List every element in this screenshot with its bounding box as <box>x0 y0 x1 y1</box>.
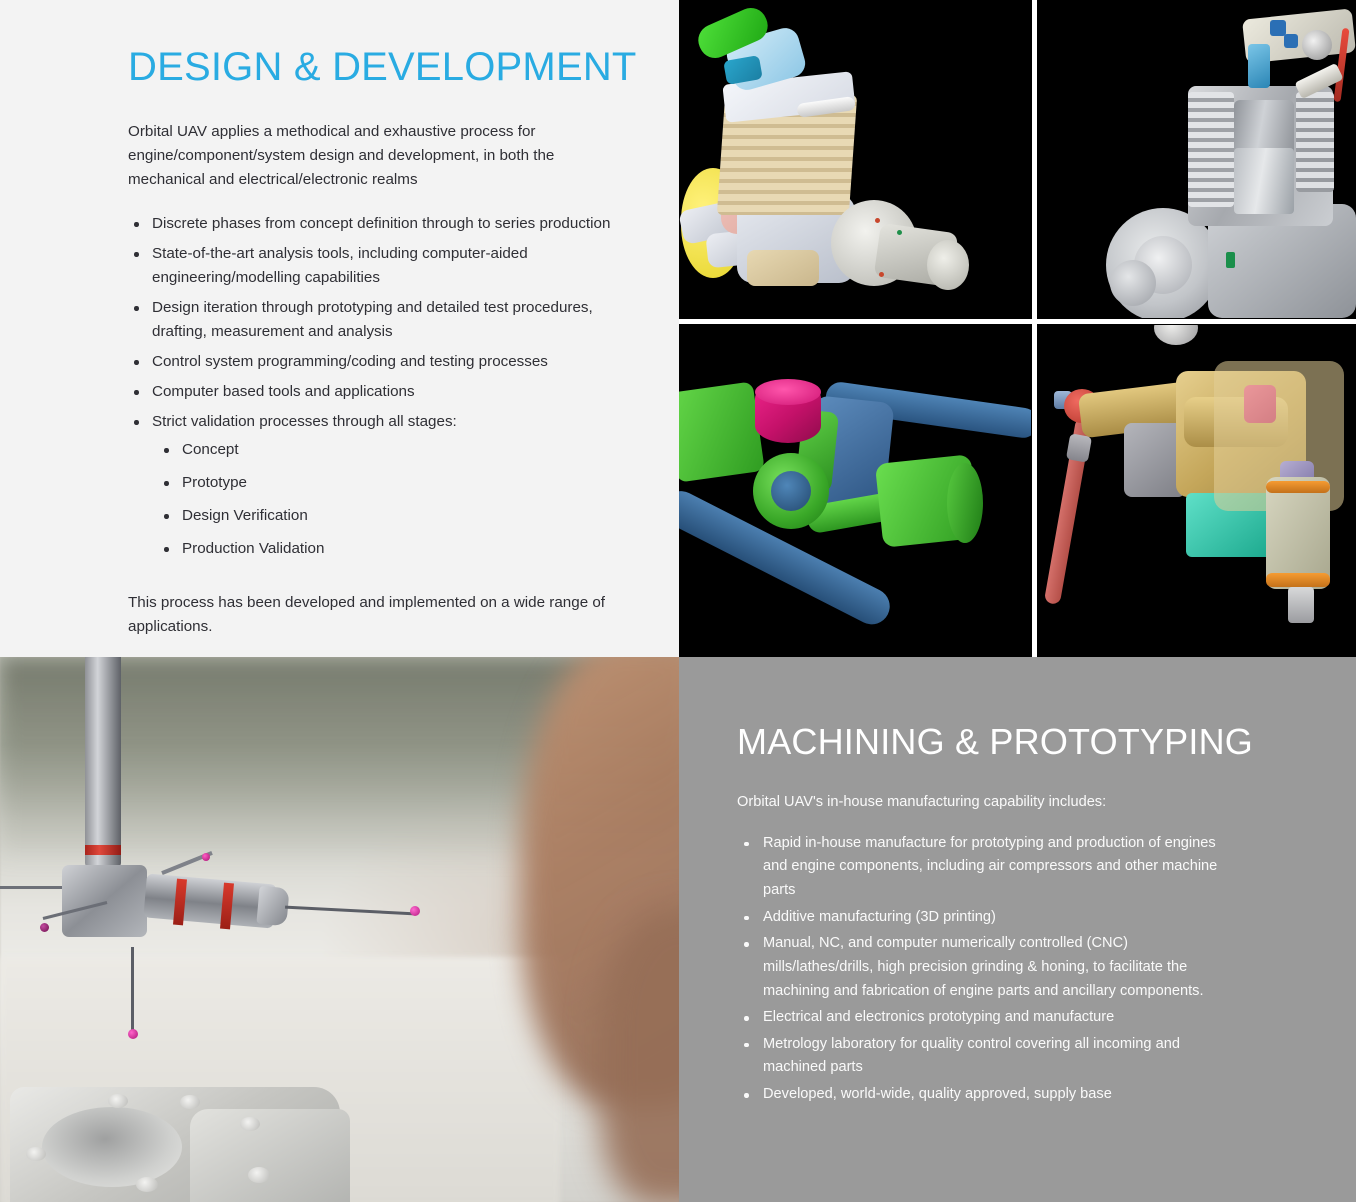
cmm-stylus-down <box>131 947 134 1032</box>
list-item: Discrete phases from concept definition … <box>128 212 621 236</box>
cad-part-marker-dot <box>879 272 884 277</box>
cad-image-engine-cutaway <box>1038 0 1356 318</box>
list-item: Metrology laboratory for quality control… <box>737 1033 1237 1080</box>
design-development-closing: This process has been developed and impl… <box>128 591 621 639</box>
cmm-quill-red-band <box>85 845 121 855</box>
cad-part-hub-end <box>927 240 969 290</box>
grid-divider-horizontal <box>679 319 1356 324</box>
cad-part-piston <box>1234 148 1294 214</box>
cad-part-hub <box>1110 260 1156 306</box>
list-item: Design iteration through prototyping and… <box>128 296 621 344</box>
grid-divider-vertical <box>1032 0 1037 657</box>
design-development-heading: DESIGN & DEVELOPMENT <box>128 44 621 90</box>
cmm-ruby-ball-left <box>40 923 49 932</box>
cad-part-cooling-fins-left <box>1188 92 1234 207</box>
cad-image-grid <box>679 0 1356 657</box>
cad-part-piston-right-crown <box>947 463 983 543</box>
casting-bolt-hole <box>136 1177 158 1192</box>
cad-part-nozzle <box>1288 587 1314 623</box>
list-item: Prototype <box>152 471 621 495</box>
list-item: Electrical and electronics prototyping a… <box>737 1006 1237 1030</box>
cad-part-blue-fitting <box>1284 34 1298 48</box>
list-item: Manual, NC, and computer numerically con… <box>737 932 1237 1003</box>
cad-part-orange-ring-bottom <box>1266 573 1330 587</box>
list-item-label: Strict validation processes through all … <box>152 413 457 430</box>
cad-part-green-marker <box>1226 252 1235 268</box>
list-item: State-of-the-art analysis tools, includi… <box>128 242 621 290</box>
cad-part-tan-base <box>747 250 819 286</box>
list-item: Additive manufacturing (3D printing) <box>737 906 1237 930</box>
cad-part-blue-fitting <box>1270 20 1286 36</box>
engine-casting-side <box>190 1109 350 1202</box>
list-item: Control system programming/coding and te… <box>128 350 621 374</box>
cad-part-orange-ring-top <box>1266 481 1330 493</box>
validation-stages-list: Concept Prototype Design Verification Pr… <box>152 438 621 561</box>
list-item: Strict validation processes through all … <box>128 410 621 561</box>
capabilities-page: DESIGN & DEVELOPMENT Orbital UAV applies… <box>0 0 1356 1202</box>
cad-image-fuel-injector <box>1038 325 1356 657</box>
cad-part-marker-dot <box>875 218 880 223</box>
cad-image-exploded-engine <box>679 0 1031 318</box>
list-item: Design Verification <box>152 504 621 528</box>
cad-part-hose-collar <box>1066 433 1092 462</box>
casting-bolt-hole <box>240 1117 260 1131</box>
casting-bolt-hole <box>26 1147 46 1161</box>
engine-casting-bore <box>42 1107 182 1187</box>
list-item: Production Validation <box>152 537 621 561</box>
cad-part-silver-nut <box>1302 30 1332 60</box>
cad-image-crank-piston <box>679 325 1031 657</box>
machining-bullet-list: Rapid in-house manufacture for prototypi… <box>737 832 1237 1107</box>
machining-prototyping-panel: MACHINING & PROTOTYPING Orbital UAV's in… <box>679 657 1356 1202</box>
machining-prototyping-intro: Orbital UAV's in-house manufacturing cap… <box>737 791 1284 814</box>
machining-prototyping-heading: MACHINING & PROTOTYPING <box>737 719 1284 765</box>
cad-part-magenta-cap <box>755 379 821 405</box>
design-development-panel: DESIGN & DEVELOPMENT Orbital UAV applies… <box>0 0 679 657</box>
cmm-ruby-ball-down <box>128 1029 138 1039</box>
list-item: Computer based tools and applications <box>128 380 621 404</box>
cad-part-top-wheel <box>1154 325 1198 345</box>
cmm-quill <box>85 657 121 867</box>
cmm-ruby-ball-upper <box>202 853 210 861</box>
design-development-bullet-list: Discrete phases from concept definition … <box>128 212 621 561</box>
cad-part-blue-solenoid <box>1248 44 1270 88</box>
cad-part-journal <box>771 471 811 511</box>
casting-bolt-hole <box>180 1095 200 1109</box>
cad-part-piston-left <box>679 381 765 482</box>
design-development-intro: Orbital UAV applies a methodical and exh… <box>128 120 580 192</box>
machining-and-prototyping-row: MACHINING & PROTOTYPING Orbital UAV's in… <box>0 657 1356 1202</box>
list-item: Rapid in-house manufacture for prototypi… <box>737 832 1237 903</box>
cmm-ruby-ball-right <box>410 906 420 916</box>
list-item: Concept <box>152 438 621 462</box>
cad-part-cooling-fins-right <box>1296 92 1334 192</box>
cad-part-marker-dot <box>897 230 902 235</box>
design-and-development-row: DESIGN & DEVELOPMENT Orbital UAV applies… <box>0 0 1356 657</box>
cmm-probe-photo <box>0 657 679 1202</box>
casting-bolt-hole <box>108 1094 128 1108</box>
casting-bolt-hole <box>248 1167 270 1183</box>
list-item: Developed, world-wide, quality approved,… <box>737 1083 1237 1107</box>
